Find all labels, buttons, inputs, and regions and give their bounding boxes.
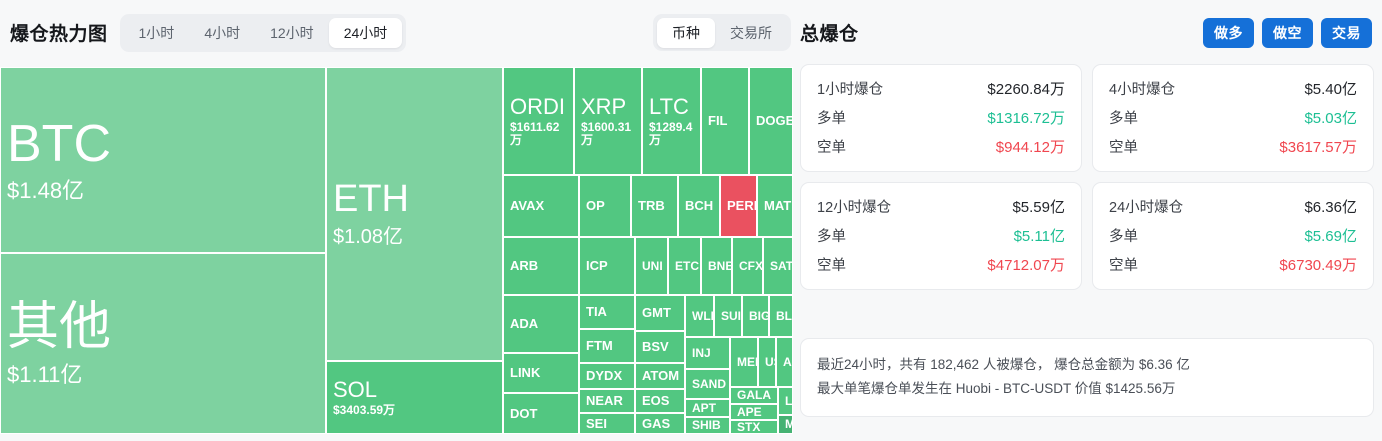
stat-card-1: 4小时爆仓$5.40亿多单$5.03亿空单$3617.57万 xyxy=(1092,64,1374,172)
treemap-tile-eth[interactable]: ETH$1.08亿 xyxy=(326,67,503,361)
timeframe-tab-2[interactable]: 12小时 xyxy=(255,18,329,48)
tile-symbol: ARB xyxy=(510,259,572,273)
tile-symbol: AXS xyxy=(783,356,786,369)
treemap-tile-ftm[interactable]: FTM xyxy=(579,329,635,363)
short-value: $3617.57万 xyxy=(1279,136,1357,157)
treemap-tile-arb[interactable]: ARB xyxy=(503,237,579,295)
tile-symbol: UNI xyxy=(642,260,661,273)
treemap-tile-mkr[interactable]: MKR xyxy=(778,415,793,434)
treemap-tile-sui[interactable]: SUI xyxy=(714,295,742,337)
treemap-tile-atom[interactable]: ATOM xyxy=(635,363,685,389)
tile-value: $3403.59万 xyxy=(333,404,496,417)
tile-symbol: DOGE xyxy=(756,114,786,128)
tile-symbol: BIGTIME xyxy=(749,310,762,323)
stat-row: 多单$5.03亿 xyxy=(1109,107,1357,128)
long-label: 多单 xyxy=(1109,107,1138,128)
mode-tab-1[interactable]: 交易所 xyxy=(715,18,787,48)
long-value: $5.69亿 xyxy=(1304,225,1357,246)
stat-row: 12小时爆仓$5.59亿 xyxy=(817,196,1065,217)
treemap-tile-shib[interactable]: SHIB xyxy=(685,417,730,434)
treemap-tile-cfx[interactable]: CFX xyxy=(732,237,763,295)
action-button-group[interactable]: 做多做空交易 xyxy=(1203,18,1372,48)
tile-symbol: FIL xyxy=(708,114,742,128)
stat-row: 1小时爆仓$2260.84万 xyxy=(817,78,1065,99)
stat-row: 4小时爆仓$5.40亿 xyxy=(1109,78,1357,99)
tile-value: $1.11亿 xyxy=(7,363,319,387)
stat-card-3: 24小时爆仓$6.36亿多单$5.69亿空单$6730.49万 xyxy=(1092,182,1374,290)
long-value: $1316.72万 xyxy=(987,107,1065,128)
tile-symbol: FTM xyxy=(586,339,628,353)
treemap-tile-dot[interactable]: DOT xyxy=(503,393,579,434)
liquidation-heatmap-page: 爆仓热力图 1小时4小时12小时24小时 币种交易所 总爆仓 做多做空交易 BT… xyxy=(0,0,1382,441)
total-title: 总爆仓 xyxy=(800,19,859,46)
stat-title: 24小时爆仓 xyxy=(1109,196,1183,217)
treemap-tile-bigtime[interactable]: BIGTIME xyxy=(742,295,769,337)
treemap-tile-dydx[interactable]: DYDX xyxy=(579,363,635,389)
tile-symbol: STX xyxy=(737,421,771,434)
treemap-tile-avax[interactable]: AVAX xyxy=(503,175,579,237)
total-header: 总爆仓 做多做空交易 xyxy=(800,0,1382,65)
tile-symbol: BLUR xyxy=(776,310,786,323)
timeframe-tab-group[interactable]: 1小时4小时12小时24小时 xyxy=(120,14,407,52)
timeframe-tab-3[interactable]: 24小时 xyxy=(329,18,403,48)
stat-total: $5.59亿 xyxy=(1012,196,1065,217)
treemap-tile-doge[interactable]: DOGE xyxy=(749,67,793,175)
treemap-tile-sol[interactable]: SOL$3403.59万 xyxy=(326,361,503,434)
stat-row: 空单$3617.57万 xyxy=(1109,136,1357,157)
treemap-tile-trb[interactable]: TRB xyxy=(631,175,678,237)
tile-symbol: GALA xyxy=(737,389,771,402)
tile-value: $1611.62万 xyxy=(510,121,567,147)
stat-title: 1小时爆仓 xyxy=(817,78,883,99)
treemap-tile-meme[interactable]: MEME xyxy=(730,337,758,387)
treemap-tile-ordi[interactable]: ORDI$1611.62万 xyxy=(503,67,574,175)
mode-tab-0[interactable]: 币种 xyxy=(657,18,715,48)
tile-symbol: ATOM xyxy=(642,369,678,383)
short-label: 空单 xyxy=(817,254,846,275)
tile-symbol: TRB xyxy=(638,199,671,213)
tile-symbol: WLD xyxy=(692,310,707,323)
tile-symbol: MKR xyxy=(785,418,786,431)
tile-symbol: NEAR xyxy=(586,394,628,408)
stat-title: 4小时爆仓 xyxy=(1109,78,1175,99)
tile-symbol: ADA xyxy=(510,317,572,331)
tile-value: $1600.31万 xyxy=(581,121,635,147)
tile-symbol: XRP xyxy=(581,95,635,118)
treemap-tile-sand[interactable]: SAND xyxy=(685,369,730,399)
stat-card-2: 12小时爆仓$5.59亿多单$5.11亿空单$4712.07万 xyxy=(800,182,1082,290)
tile-symbol: LINK xyxy=(510,366,572,380)
short-value: $944.12万 xyxy=(996,136,1065,157)
stat-row: 空单$944.12万 xyxy=(817,136,1065,157)
tile-symbol: INJ xyxy=(692,347,723,360)
treemap-tile-gmt[interactable]: GMT xyxy=(635,295,685,331)
treemap-tile-ltc[interactable]: LTC$1289.4万 xyxy=(642,67,701,175)
stat-title: 12小时爆仓 xyxy=(817,196,891,217)
tile-symbol: TIA xyxy=(586,305,628,319)
treemap-tile-stx[interactable]: STX xyxy=(730,420,778,434)
treemap-tile-gala[interactable]: GALA xyxy=(730,387,778,404)
summary-line-1: 最近24小时，共有 182,462 人被爆仓， 爆仓总金额为 $6.36 亿 xyxy=(817,353,1357,377)
treemap-tile-eos[interactable]: EOS xyxy=(635,389,685,413)
treemap-tile-wld[interactable]: WLD xyxy=(685,295,714,337)
tile-symbol: SOL xyxy=(333,378,496,401)
liquidation-stats-cards: 1小时爆仓$2260.84万多单$1316.72万空单$944.12万4小时爆仓… xyxy=(800,64,1374,290)
tile-value: $1.08亿 xyxy=(333,226,496,248)
stat-row: 24小时爆仓$6.36亿 xyxy=(1109,196,1357,217)
treemap-tile-sei[interactable]: SEI xyxy=(579,413,635,434)
treemap-tile-apt[interactable]: APT xyxy=(685,399,730,417)
tile-symbol: CFX xyxy=(739,260,756,273)
treemap-tile-perp[interactable]: PERP xyxy=(720,175,757,237)
tile-value: $1289.4万 xyxy=(649,121,694,147)
treemap-tile-op[interactable]: OP xyxy=(579,175,631,237)
treemap-tile-uni[interactable]: UNI xyxy=(635,237,668,295)
tile-symbol: BSV xyxy=(642,340,678,354)
tile-symbol: MEME xyxy=(737,356,751,369)
tile-symbol: MATIC xyxy=(764,199,786,213)
treemap-tile-sats[interactable]: SATS xyxy=(763,237,793,295)
treemap-tile-ape[interactable]: APE xyxy=(730,404,778,420)
stat-total: $5.40亿 xyxy=(1304,78,1357,99)
tile-symbol: AVAX xyxy=(510,199,572,213)
stat-row: 空单$4712.07万 xyxy=(817,254,1065,275)
tile-symbol: 其他 xyxy=(7,300,319,355)
tile-symbol: GAS xyxy=(642,417,678,431)
long-value: $5.11亿 xyxy=(1014,225,1065,246)
stat-total: $6.36亿 xyxy=(1304,196,1357,217)
short-label: 空单 xyxy=(1109,254,1138,275)
tile-symbol: EOS xyxy=(642,394,678,408)
summary-box: 最近24小时，共有 182,462 人被爆仓， 爆仓总金额为 $6.36 亿 最… xyxy=(800,338,1374,417)
tile-symbol: ICP xyxy=(586,259,628,273)
tile-symbol: PERP xyxy=(727,199,750,213)
treemap-tile-blur[interactable]: BLUR xyxy=(769,295,793,337)
treemap-tile-bch[interactable]: BCH xyxy=(678,175,720,237)
mode-toggle-wrap: 币种交易所 xyxy=(653,14,791,51)
tile-symbol: SEI xyxy=(586,417,628,431)
treemap-tile-tia[interactable]: TIA xyxy=(579,295,635,329)
tile-symbol: BTC xyxy=(7,117,319,172)
tile-value: $1.48亿 xyxy=(7,179,319,203)
tile-symbol: DYDX xyxy=(586,369,628,383)
tile-symbol: APE xyxy=(737,406,771,419)
long-label: 多单 xyxy=(817,107,846,128)
treemap-tile-etc[interactable]: ETC xyxy=(668,237,701,295)
tile-symbol: OP xyxy=(586,199,624,213)
treemap-tile-fil[interactable]: FIL xyxy=(701,67,749,175)
treemap-tile-axs[interactable]: AXS xyxy=(776,337,793,387)
liquidation-treemap[interactable]: BTC$1.48亿其他$1.11亿ETH$1.08亿SOL$3403.59万OR… xyxy=(0,67,793,434)
long-label: 多单 xyxy=(1109,225,1138,246)
stat-total: $2260.84万 xyxy=(987,78,1065,99)
long-value: $5.03亿 xyxy=(1304,107,1357,128)
stat-row: 多单$5.11亿 xyxy=(817,225,1065,246)
treemap-tile-matic[interactable]: MATIC xyxy=(757,175,793,237)
tile-symbol: GMT xyxy=(642,306,678,320)
short-label: 空单 xyxy=(1109,136,1138,157)
treemap-tile-btc[interactable]: BTC$1.48亿 xyxy=(0,67,326,253)
short-label: 空单 xyxy=(817,136,846,157)
timeframe-tab-0[interactable]: 1小时 xyxy=(124,18,190,48)
tile-symbol: BCH xyxy=(685,199,713,213)
treemap-tile-near[interactable]: NEAR xyxy=(579,389,635,413)
tile-symbol: ORDI xyxy=(510,95,567,118)
stat-card-0: 1小时爆仓$2260.84万多单$1316.72万空单$944.12万 xyxy=(800,64,1082,172)
tile-symbol: ETC xyxy=(675,260,694,273)
action-button-0[interactable]: 做多 xyxy=(1203,18,1254,48)
tile-symbol: LTC xyxy=(649,95,694,118)
tile-symbol: USDC xyxy=(765,356,769,369)
tile-symbol: SATS xyxy=(770,260,786,273)
treemap-tile-bsv[interactable]: BSV xyxy=(635,331,685,363)
tile-symbol: ETH xyxy=(333,180,496,220)
tile-symbol: APT xyxy=(692,402,723,415)
long-label: 多单 xyxy=(817,225,846,246)
tile-symbol: SUI xyxy=(721,310,735,323)
treemap-tile-ada[interactable]: ADA xyxy=(503,295,579,353)
page-title: 爆仓热力图 xyxy=(10,19,108,46)
action-button-2[interactable]: 交易 xyxy=(1321,18,1372,48)
treemap-tile-bnb[interactable]: BNB xyxy=(701,237,732,295)
tile-symbol: BNB xyxy=(708,260,725,273)
stat-row: 空单$6730.49万 xyxy=(1109,254,1357,275)
tile-symbol: LDO xyxy=(785,395,786,408)
short-value: $4712.07万 xyxy=(987,254,1065,275)
summary-line-2: 最大单笔爆仓单发生在 Huobi - BTC-USDT 价值 $1425.56万 xyxy=(817,377,1357,401)
tile-symbol: SAND xyxy=(692,378,723,391)
treemap-tile-link[interactable]: LINK xyxy=(503,353,579,393)
treemap-tile-ldo[interactable]: LDO xyxy=(778,387,793,415)
tile-symbol: DOT xyxy=(510,407,572,421)
treemap-tile-inj[interactable]: INJ xyxy=(685,337,730,369)
stat-row: 多单$5.69亿 xyxy=(1109,225,1357,246)
treemap-tile-usdc[interactable]: USDC xyxy=(758,337,776,387)
action-button-1[interactable]: 做空 xyxy=(1262,18,1313,48)
timeframe-tab-1[interactable]: 4小时 xyxy=(189,18,255,48)
treemap-tile-其他[interactable]: 其他$1.11亿 xyxy=(0,253,326,434)
treemap-tile-xrp[interactable]: XRP$1600.31万 xyxy=(574,67,642,175)
short-value: $6730.49万 xyxy=(1279,254,1357,275)
tile-symbol: SHIB xyxy=(692,419,723,432)
treemap-tile-gas[interactable]: GAS xyxy=(635,413,685,434)
mode-tab-group[interactable]: 币种交易所 xyxy=(653,14,791,51)
treemap-tile-icp[interactable]: ICP xyxy=(579,237,635,295)
stat-row: 多单$1316.72万 xyxy=(817,107,1065,128)
